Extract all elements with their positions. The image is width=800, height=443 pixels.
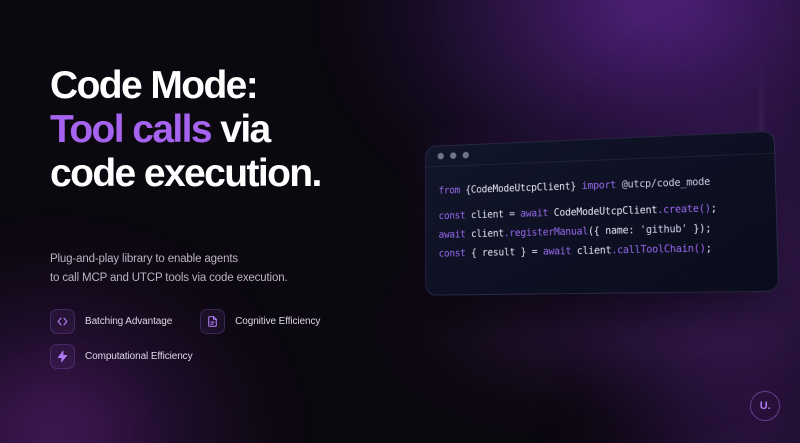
lightning-bolt-icon [50,344,75,369]
feature-badge-label: Computational Efficiency [85,351,192,362]
code-window: from {CodeModeUtcpClient} import @utcp/c… [425,131,779,296]
window-dot-minimize-icon[interactable] [450,152,456,159]
code-token: }); [687,223,711,235]
code-token: = [509,208,520,220]
feature-badge-label: Cognitive Efficiency [235,316,320,327]
subtitle-line-2: to call MCP and UTCP tools via code exec… [50,272,288,284]
background-glow-bottom-right [570,313,800,443]
feature-badge-label: Batching Advantage [85,316,172,327]
code-token: client [577,245,612,257]
headline-line-1: Code Mode: [50,64,257,107]
code-token: { result } [471,246,532,259]
code-token: CodeModeUtcpClient [554,204,658,219]
feature-badge-list: Batching Advantage Cognitive Efficiency [50,309,350,369]
code-token: await [543,246,577,258]
code-token: ({ name: [588,224,640,237]
code-token: const [439,210,471,222]
page-title: Code Mode: Tool calls via code execution… [50,64,390,196]
hero-slide: Code Mode: Tool calls via code execution… [0,0,800,443]
code-token: .callToolChain() [611,243,706,257]
code-token: client [471,228,504,240]
feature-badge-computational-efficiency[interactable]: Computational Efficiency [50,344,192,369]
brand-logo-text: U. [760,400,770,412]
headline-line-3: code execution. [50,152,321,195]
code-snippet: from {CodeModeUtcpClient} import @utcp/c… [426,154,777,274]
code-token: @utcp/code_mode [622,176,711,191]
code-brackets-icon [50,309,75,334]
brand-logo[interactable]: U. [750,391,780,421]
hero-subtitle: Plug-and-play library to enable agents t… [50,250,390,287]
code-token: = [532,246,543,258]
window-dot-maximize-icon[interactable] [463,152,469,159]
feature-badge-cognitive-efficiency[interactable]: Cognitive Efficiency [200,309,320,334]
window-dot-close-icon[interactable] [438,153,444,160]
headline-accent-text: Tool calls [50,108,211,151]
code-preview-container: from {CodeModeUtcpClient} import @utcp/c… [408,132,776,292]
feature-badge-batching-advantage[interactable]: Batching Advantage [50,309,172,334]
subtitle-line-1: Plug-and-play library to enable agents [50,253,238,265]
code-token: from [439,185,466,197]
code-token: import [576,179,622,192]
headline-line-2-rest: via [211,108,270,151]
code-token: await [439,229,471,241]
code-token: await [520,207,554,219]
code-token: ; [711,203,717,215]
hero-text-column: Code Mode: Tool calls via code execution… [50,64,390,369]
code-token: 'github' [640,223,687,236]
code-token: const [439,248,471,260]
document-icon [200,309,225,334]
code-token: client [471,209,509,221]
code-token: {CodeModeUtcpClient} [465,181,576,196]
code-token: .create() [657,203,711,216]
code-token: .registerManual [504,226,588,240]
code-token: ; [706,243,712,255]
